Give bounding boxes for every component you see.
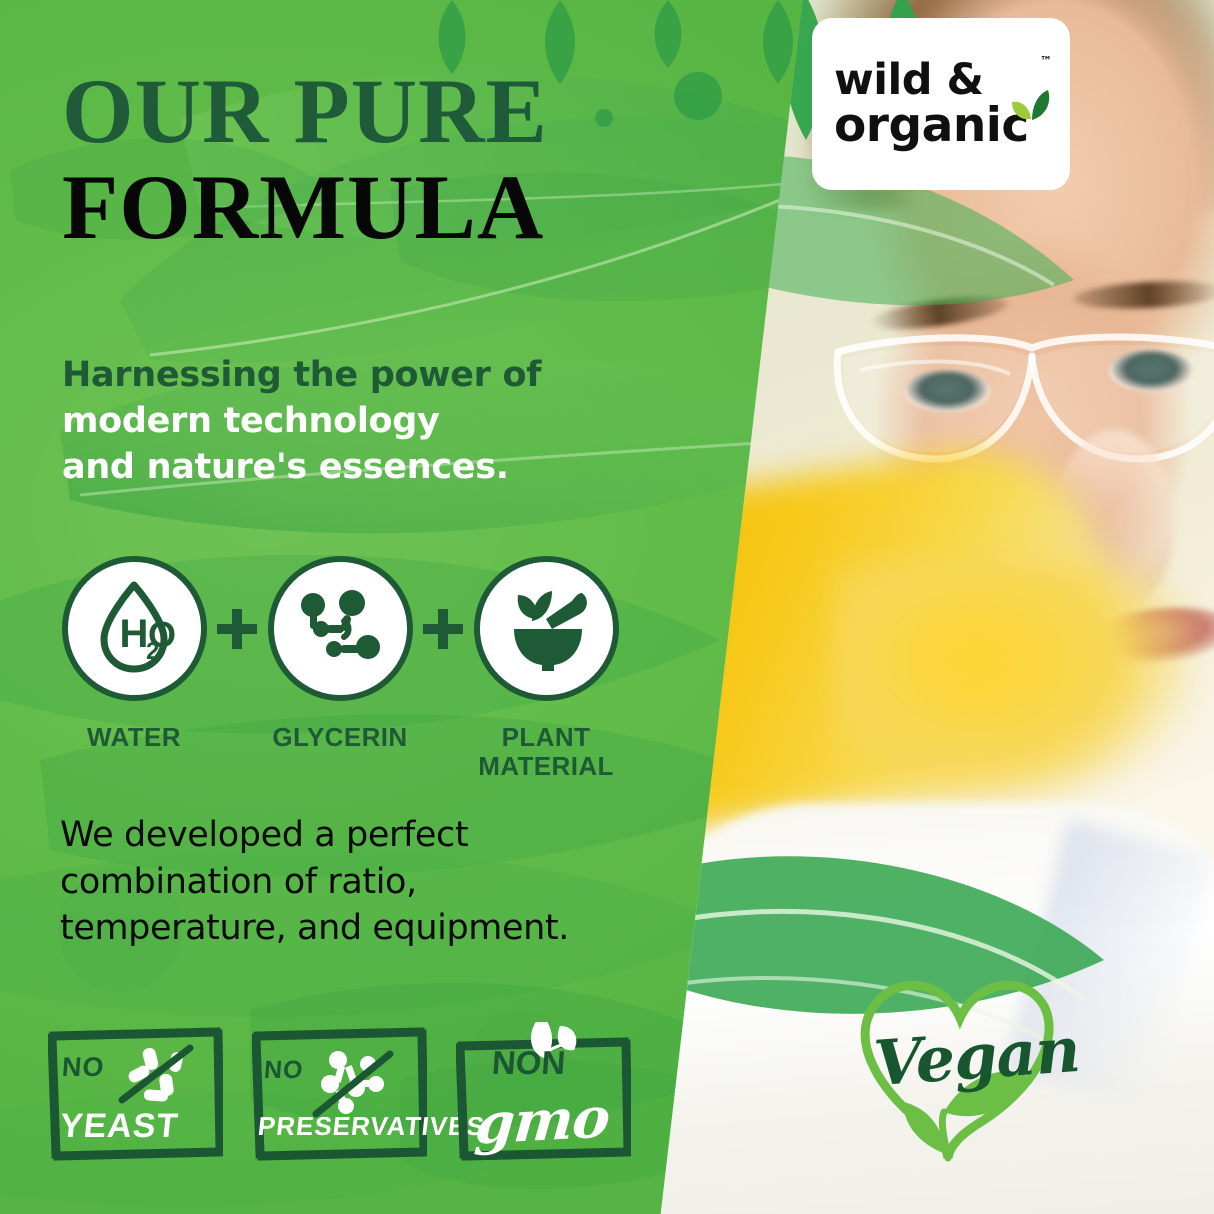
subheading: Harnessing the power of modern technolog… <box>62 352 662 491</box>
vegan-label: Vegan <box>872 1013 1082 1100</box>
page-title: OUR PURE FORMULA <box>62 64 548 255</box>
ingredient-label: PLANT MATERIAL <box>472 723 620 781</box>
badge-bottom-text: gmo <box>473 1085 612 1158</box>
svg-text:O: O <box>148 614 176 655</box>
paragraph-line-3: temperature, and equipment. <box>60 905 640 952</box>
ingredient-label-line-2: MATERIAL <box>478 751 614 781</box>
trademark-symbol: ™ <box>1040 54 1052 68</box>
body-paragraph: We developed a perfect combination of ra… <box>60 812 640 952</box>
molecule-icon <box>268 556 413 701</box>
certification-badges: NO YEAST <box>48 1022 631 1162</box>
paragraph-line-1: We developed a perfect <box>60 812 640 859</box>
mortar-pestle-leaf-icon <box>474 556 619 701</box>
ingredient-label: WATER <box>60 723 208 752</box>
ingredient-label: GLYCERIN <box>266 723 414 752</box>
subheading-line-1: Harnessing the power of <box>62 352 662 398</box>
badge-no-preservatives: NO PRESERVATIVES <box>252 1022 427 1162</box>
ingredient-label-line-1: PLANT <box>502 722 591 752</box>
plus-separator-1 <box>208 556 266 701</box>
logo-leaf-icon <box>1008 88 1054 133</box>
badge-no-yeast: NO YEAST <box>48 1022 223 1162</box>
headline-line-2: FORMULA <box>62 160 548 256</box>
ingredient-row: H 2 O WATER <box>60 556 620 781</box>
badge-top-text: NO <box>61 1052 106 1083</box>
ingredient-water: H 2 O WATER <box>60 556 208 752</box>
brand-logo-card[interactable]: wild & organic ™ <box>812 18 1070 190</box>
badge-non-gmo: NON gmo <box>456 1022 631 1162</box>
badge-top-text: NON <box>491 1044 567 1082</box>
headline-line-1: OUR PURE <box>62 64 548 160</box>
subheading-line-3: and nature's essences. <box>62 444 662 490</box>
ingredient-plant-material: PLANT MATERIAL <box>472 556 620 781</box>
poster: wild & organic ™ OUR PURE FORMULA Harnes… <box>0 0 1214 1214</box>
water-drop-h2o-icon: H 2 O <box>62 556 207 701</box>
plus-separator-2 <box>414 556 472 701</box>
ingredient-glycerin: GLYCERIN <box>266 556 414 752</box>
badge-top-text: NO <box>263 1056 305 1085</box>
subheading-line-2: modern technology <box>62 398 662 444</box>
paragraph-line-2: combination of ratio, <box>60 859 640 906</box>
svg-text:H: H <box>120 612 149 656</box>
vegan-badge: Vegan <box>848 962 1078 1174</box>
badge-bottom-text: YEAST <box>58 1107 180 1146</box>
badge-bottom-text: PRESERVATIVES <box>256 1111 486 1142</box>
